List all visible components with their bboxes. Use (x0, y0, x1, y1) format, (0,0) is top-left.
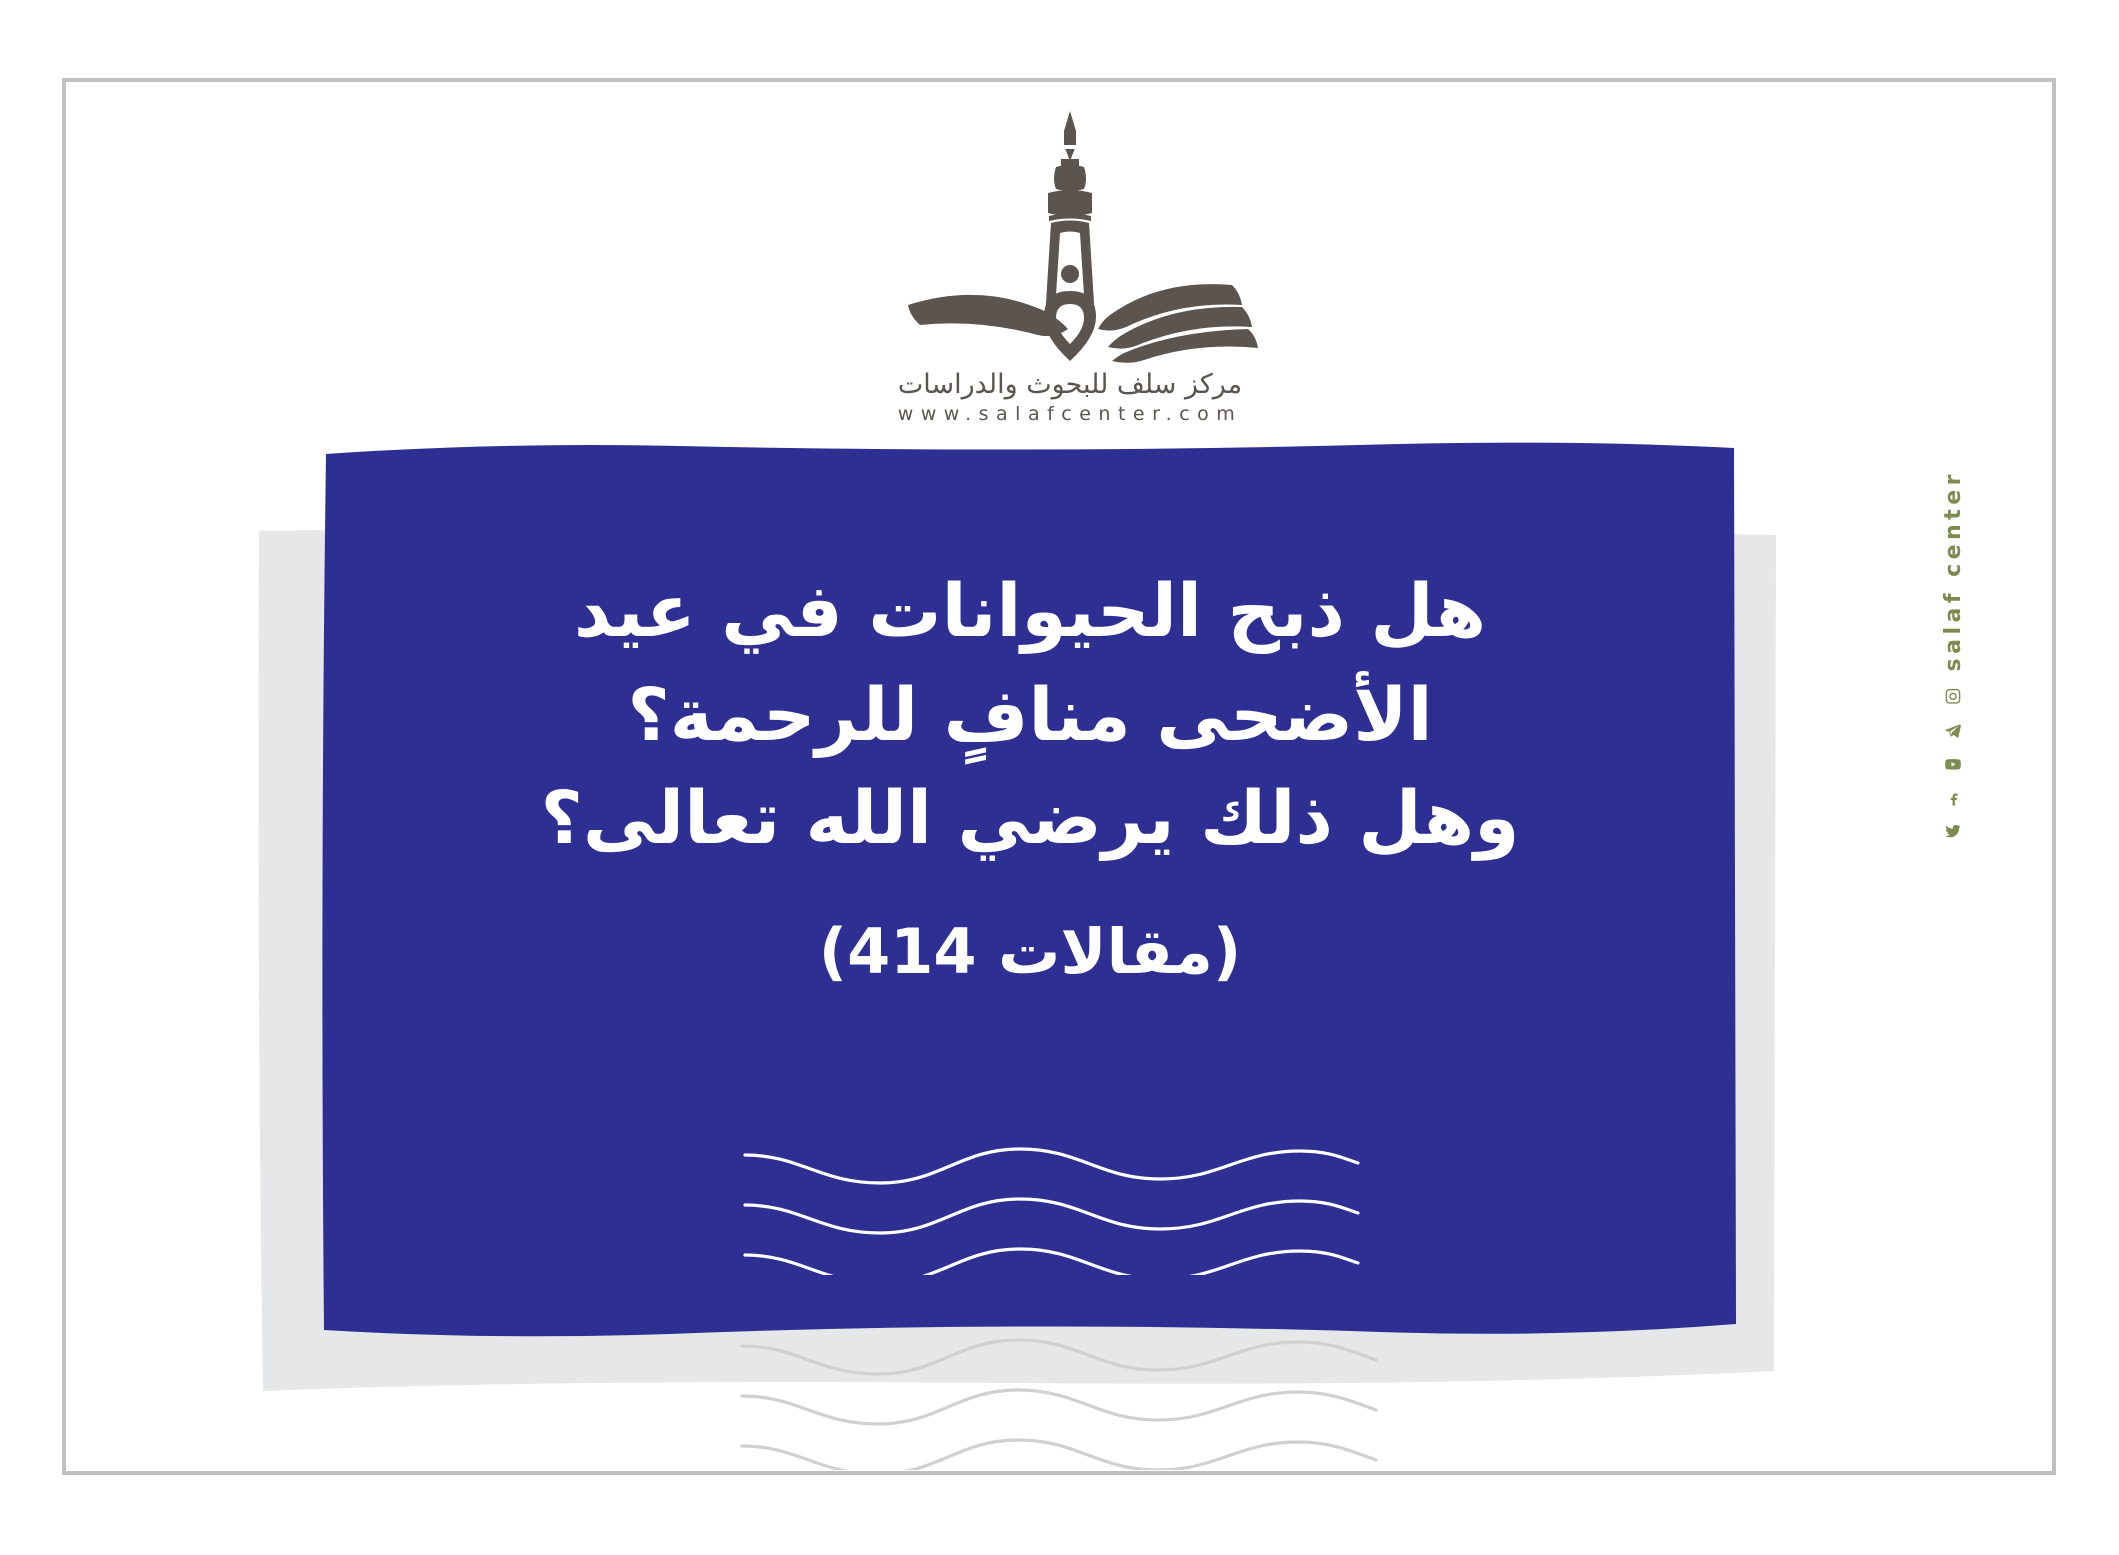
facebook-icon[interactable] (1940, 790, 1966, 807)
social-media-rail: salaf center (1918, 470, 1988, 840)
instagram-icon[interactable] (1940, 688, 1966, 705)
youtube-icon[interactable] (1940, 756, 1966, 773)
minaret-pen-book-logo-icon (880, 105, 1260, 367)
white-wave-divider (740, 1135, 1360, 1275)
brand-logo-block: مركز سلف للبحوث والدراسات www.salafcente… (880, 105, 1260, 435)
telegram-icon[interactable] (1940, 722, 1966, 739)
logo-website-url: www.salafcenter.com (880, 403, 1260, 425)
twitter-icon[interactable] (1940, 823, 1966, 840)
logo-name-arabic: مركز سلف للبحوث والدراسات (880, 369, 1260, 400)
gray-wave-divider (740, 1330, 1380, 1470)
social-handle-text: salaf center (1941, 470, 1966, 671)
